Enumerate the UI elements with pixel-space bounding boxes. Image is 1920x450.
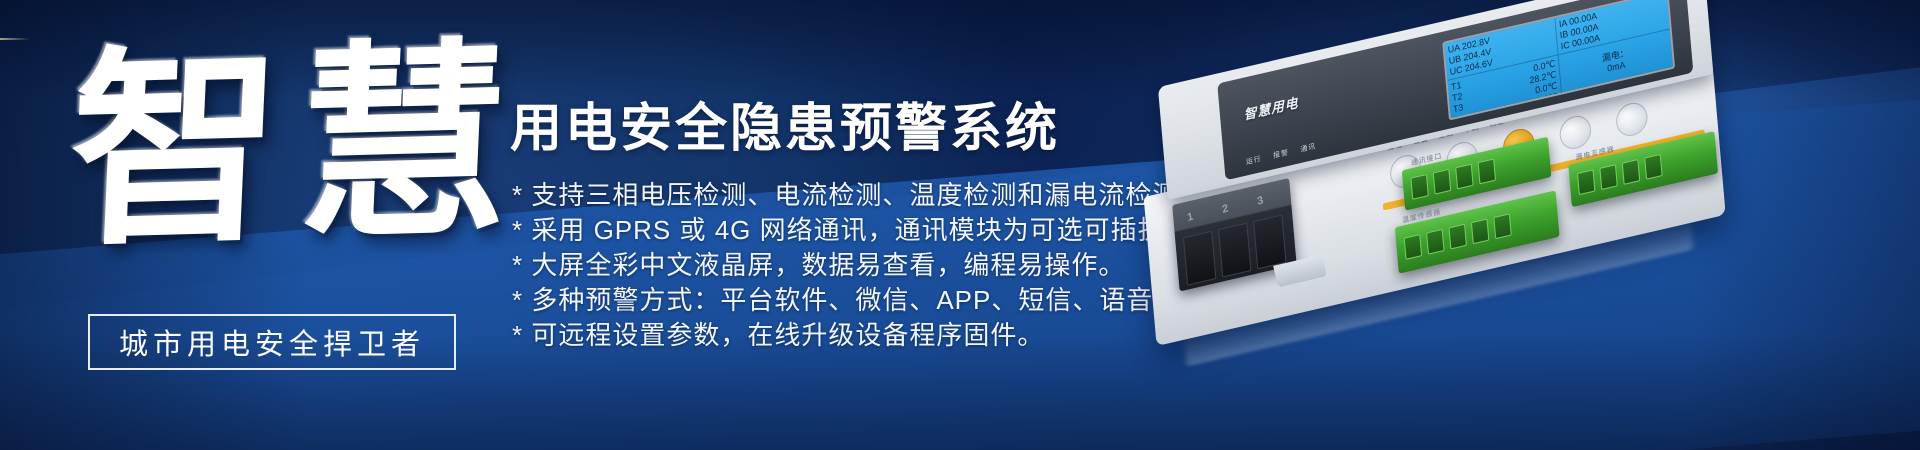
terminal-pin	[1577, 169, 1596, 195]
connector-pin	[1253, 214, 1286, 269]
terminal-pin	[1410, 174, 1429, 200]
corner-accent-line	[0, 38, 30, 40]
terminal-pin	[1478, 158, 1497, 184]
terminal-pin	[1599, 164, 1618, 190]
terminal-pin	[1433, 169, 1452, 195]
terminal-pin	[1644, 154, 1663, 180]
tagline-text: 城市用电安全捍卫者	[119, 321, 425, 363]
connector-number-1: 1	[1186, 210, 1194, 224]
device-brand-label: 智慧用电	[1243, 92, 1299, 124]
led-label-comm: 通讯	[1300, 141, 1316, 155]
terminal-pin	[1455, 164, 1474, 190]
product-image: 复位 设置 上翻 下翻 确定 智慧用电	[1060, 8, 1840, 428]
terminal-pin	[1493, 213, 1512, 239]
page-title: 用电安全隐患预警系统	[510, 86, 1060, 161]
connector-pin	[1218, 223, 1251, 278]
terminal-pin	[1404, 234, 1423, 260]
connector-number-3: 3	[1256, 194, 1264, 208]
calligraphy-text: 智慧	[64, 17, 496, 283]
lcd-leakage-value: 0mA	[1607, 59, 1626, 74]
led-label-run: 运行	[1246, 154, 1262, 168]
device-button-down[interactable]	[1558, 113, 1592, 152]
connector-pin	[1183, 231, 1216, 286]
terminal-pin	[1622, 159, 1641, 185]
terminal-pin	[1426, 229, 1445, 255]
calligraphy-block: 智慧	[70, 28, 490, 318]
connector-number-2: 2	[1221, 202, 1229, 216]
promo-banner: 智慧 城市用电安全捍卫者 用电安全隐患预警系统 * 支持三相电压检测、电流检测、…	[0, 0, 1920, 450]
device-button-ok[interactable]	[1615, 100, 1649, 139]
tagline-box: 城市用电安全捍卫者	[88, 314, 456, 370]
led-label-alarm: 报警	[1273, 147, 1289, 161]
terminal-pin	[1471, 218, 1490, 244]
lcd-temp-label-4: T4	[1454, 113, 1465, 118]
terminal-pin	[1448, 224, 1467, 250]
device-unit: 复位 设置 上翻 下翻 确定 智慧用电	[1134, 0, 1745, 394]
device-led-row: 运行 报警 通讯	[1246, 141, 1317, 167]
